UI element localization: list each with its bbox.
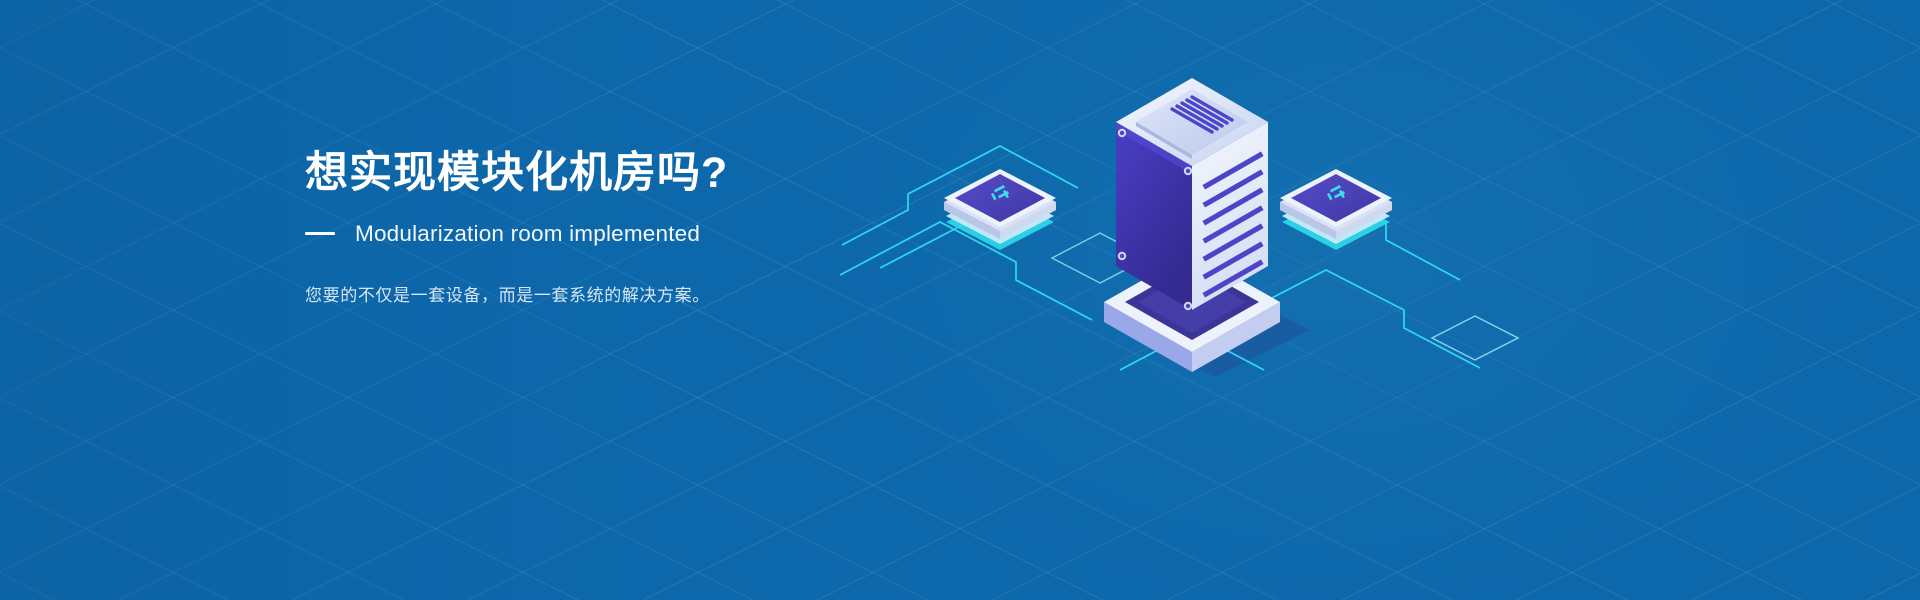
isometric-server-rack-illustration [820,70,1560,410]
chip-module-right [1280,169,1392,250]
dash-marker-icon [305,232,335,235]
hero-banner: 想实现模块化机房吗? Modularization room implement… [0,0,1920,600]
subtitle-text: Modularization room implemented [355,221,700,247]
chip-module-left [944,169,1056,250]
server-tower [1116,78,1268,310]
